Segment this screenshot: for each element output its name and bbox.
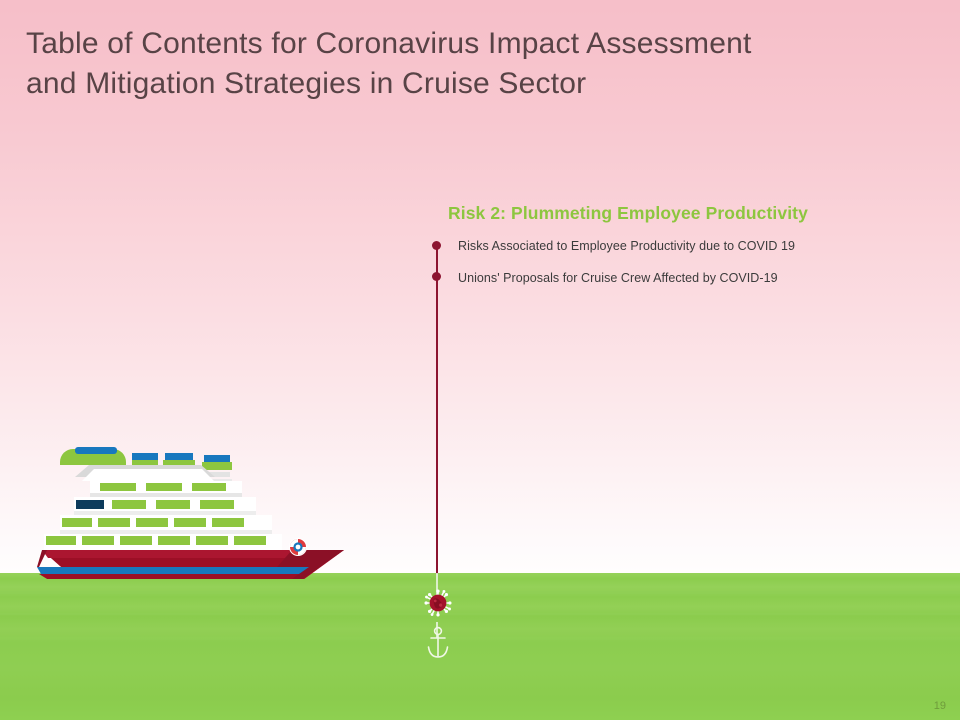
page-number: 19 — [934, 700, 946, 712]
section-heading: Risk 2: Plummeting Employee Productivity — [448, 203, 808, 224]
page-title-line-2: and Mitigation Strategies in Cruise Sect… — [26, 64, 926, 104]
cruise-ship-illustration — [34, 443, 354, 579]
bullet-marker-1 — [432, 241, 441, 250]
page-title-line-1: Table of Contents for Coronavirus Impact… — [26, 24, 926, 64]
list-item[interactable]: Unions' Proposals for Cruise Crew Affect… — [458, 271, 778, 285]
coronavirus-icon — [424, 589, 452, 617]
background-water — [0, 573, 960, 720]
page-title: Table of Contents for Coronavirus Impact… — [26, 24, 926, 104]
anchor-icon — [425, 626, 451, 660]
timeline-connector-line — [436, 245, 438, 574]
slide-canvas: Table of Contents for Coronavirus Impact… — [0, 0, 960, 720]
list-item[interactable]: Risks Associated to Employee Productivit… — [458, 239, 795, 253]
bullet-marker-2 — [432, 272, 441, 281]
